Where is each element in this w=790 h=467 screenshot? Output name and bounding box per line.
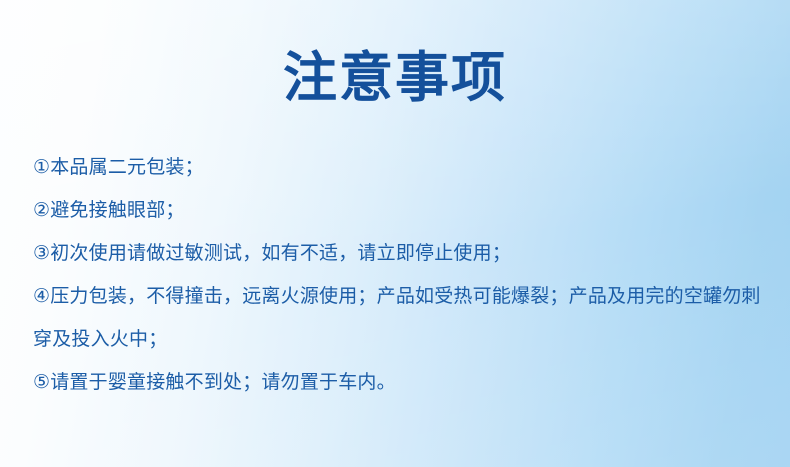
- list-item: ③初次使用请做过敏测试，如有不适，请立即停止使用；: [33, 232, 773, 275]
- notice-panel: 注意事项 ①本品属二元包装； ②避免接触眼部； ③初次使用请做过敏测试，如有不适…: [0, 0, 790, 467]
- notice-list: ①本品属二元包装； ②避免接触眼部； ③初次使用请做过敏测试，如有不适，请立即停…: [33, 146, 773, 404]
- list-item: ②避免接触眼部；: [33, 189, 773, 232]
- list-item: ④压力包装，不得撞击，远离火源使用；产品如受热可能爆裂；产品及用完的空罐勿刺穿及…: [33, 275, 775, 361]
- page-title: 注意事项: [0, 47, 790, 109]
- list-item: ⑤请置于婴童接触不到处；请勿置于车内。: [33, 361, 773, 404]
- list-item: ①本品属二元包装；: [33, 146, 773, 189]
- notice-content: 注意事项 ①本品属二元包装； ②避免接触眼部； ③初次使用请做过敏测试，如有不适…: [0, 0, 790, 467]
